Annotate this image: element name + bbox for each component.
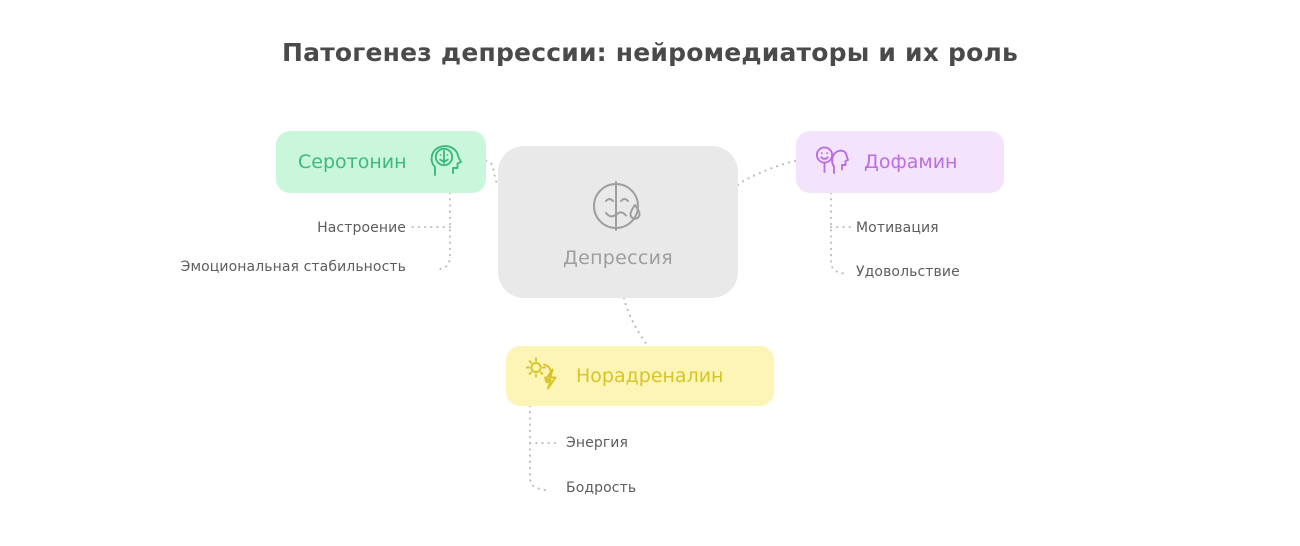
mindmap-canvas: Патогенез депрессии: нейромедиаторы и их…: [0, 0, 1300, 546]
sublabel-serotonin-mood: Настроение: [317, 220, 406, 236]
link-dopamine-spine: [831, 193, 846, 274]
link-noradrenaline-spine: [530, 406, 545, 490]
sublabel-dopamine-pleasure: Удовольствие: [856, 264, 960, 280]
node-serotonin[interactable]: Серотонин: [276, 131, 486, 193]
sad-happy-face-icon: [587, 175, 649, 237]
node-noradrenaline[interactable]: Норадреналин: [506, 346, 774, 406]
node-depression-label: Депрессия: [563, 247, 673, 269]
sublabel-noradrenaline-vigor: Бодрость: [566, 480, 636, 496]
link-serotonin-spine: [436, 193, 450, 270]
sublabel-dopamine-motivation: Мотивация: [856, 220, 939, 236]
link-center-dopamine: [738, 161, 796, 185]
page-title: Патогенез депрессии: нейромедиаторы и их…: [0, 38, 1300, 67]
head-lollipop-smiley-icon: [812, 142, 852, 182]
node-dopamine[interactable]: Дофамин: [796, 131, 1004, 193]
sun-lightning-icon: [522, 355, 564, 397]
link-serotonin-center: [486, 161, 498, 185]
node-noradrenaline-label: Норадреналин: [576, 365, 723, 387]
sublabel-noradrenaline-energy: Энергия: [566, 435, 628, 451]
node-depression[interactable]: Депрессия: [498, 146, 738, 298]
node-serotonin-label: Серотонин: [298, 151, 407, 173]
sublabel-serotonin-stability: Эмоциональная стабильность: [181, 259, 406, 275]
link-center-noradrenaline: [624, 298, 648, 346]
head-smiley-brain-icon: [426, 142, 466, 182]
node-dopamine-label: Дофамин: [864, 151, 957, 173]
